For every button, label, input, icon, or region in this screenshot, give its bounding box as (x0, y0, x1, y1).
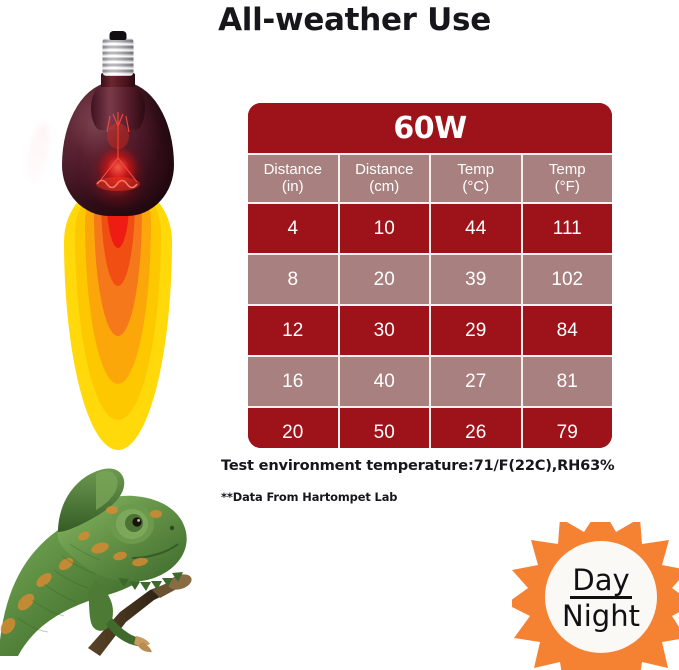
cell-temp-c: 44 (431, 204, 523, 253)
bulb-specular-highlight (22, 121, 55, 188)
column-header-line1: Distance (355, 162, 413, 179)
table-row: 4 10 44 111 (248, 204, 612, 253)
cell-distance-cm: 50 (340, 408, 432, 448)
cell-temp-f: 79 (523, 408, 613, 448)
column-header-line1: Distance (264, 162, 322, 179)
day-night-text: Day Night (512, 522, 679, 670)
column-header-line2: (in) (282, 179, 304, 196)
cell-distance-in: 4 (248, 204, 340, 253)
spec-table: 60W Distance (in) Distance (cm) Temp (°C… (248, 103, 612, 448)
table-row: 16 40 27 81 (248, 357, 612, 406)
cell-temp-f: 102 (523, 255, 613, 304)
column-header-line2: (°F) (555, 179, 580, 196)
chameleon-icon (0, 452, 232, 656)
cell-temp-c: 26 (431, 408, 523, 448)
cell-distance-cm: 10 (340, 204, 432, 253)
cell-temp-f: 81 (523, 357, 613, 406)
cell-distance-cm: 30 (340, 306, 432, 355)
column-header-line2: (°C) (462, 179, 489, 196)
day-label: Day (570, 566, 631, 599)
cell-distance-cm: 20 (340, 255, 432, 304)
bulb-filament-icon (83, 106, 153, 198)
night-label: Night (562, 599, 640, 631)
cell-distance-in: 16 (248, 357, 340, 406)
cell-temp-c: 39 (431, 255, 523, 304)
data-source-note: **Data From Hartompet Lab (221, 490, 397, 504)
heat-lamp-illustration (8, 30, 228, 450)
cell-temp-f: 111 (523, 204, 613, 253)
cell-temp-c: 27 (431, 357, 523, 406)
column-header-temp-c: Temp (°C) (431, 155, 523, 202)
column-header-distance-cm: Distance (cm) (340, 155, 432, 202)
table-row: 20 50 26 79 (248, 408, 612, 448)
column-header-line1: Temp (549, 162, 586, 179)
cell-temp-f: 84 (523, 306, 613, 355)
column-header-distance-in: Distance (in) (248, 155, 340, 202)
cell-temp-c: 29 (431, 306, 523, 355)
column-header-line1: Temp (457, 162, 494, 179)
cell-distance-in: 12 (248, 306, 340, 355)
test-environment-note: Test environment temperature:71/F(22C),R… (221, 457, 614, 474)
cell-distance-cm: 40 (340, 357, 432, 406)
table-title: 60W (248, 103, 612, 153)
cell-distance-in: 20 (248, 408, 340, 448)
table-header-row: Distance (in) Distance (cm) Temp (°C) Te… (248, 155, 612, 202)
cell-distance-in: 8 (248, 255, 340, 304)
day-night-badge: Day Night (512, 522, 679, 670)
table-row: 12 30 29 84 (248, 306, 612, 355)
column-header-line2: (cm) (369, 179, 399, 196)
bulb-screw-base-icon (103, 38, 134, 76)
table-row: 8 20 39 102 (248, 255, 612, 304)
bulb-contact-tip (110, 31, 127, 40)
column-header-temp-f: Temp (°F) (523, 155, 613, 202)
